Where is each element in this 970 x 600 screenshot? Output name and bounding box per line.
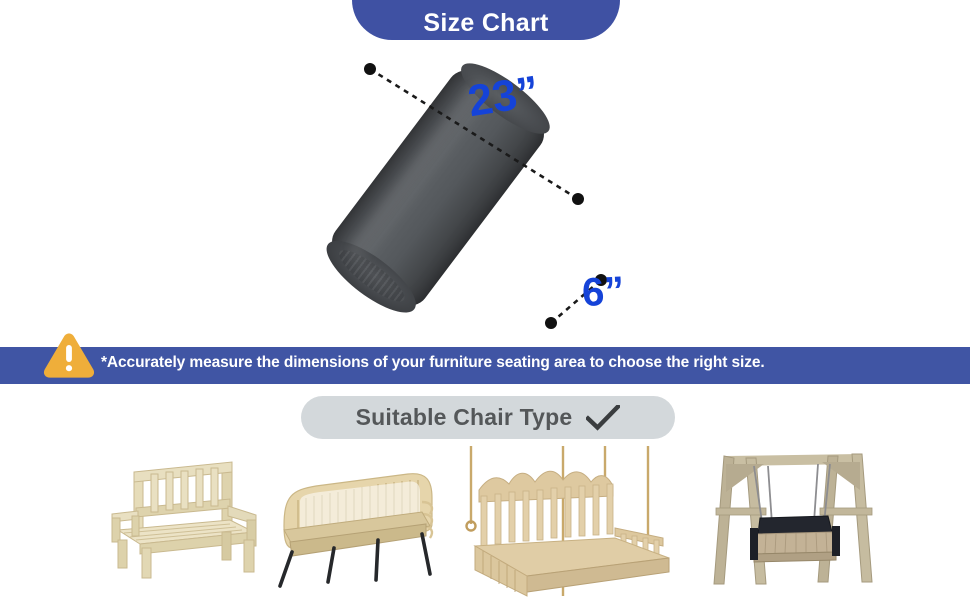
length-dimension-label: 23”: [465, 70, 542, 125]
check-icon: [586, 405, 620, 431]
list-item: [710, 444, 875, 594]
suitable-chair-type-label: Suitable Chair Type: [356, 406, 573, 429]
size-chart-header-pill: Size Chart: [352, 0, 620, 40]
list-item: [104, 458, 264, 583]
rattan-wicker-loveseat-image: [272, 468, 442, 590]
warning-triangle-icon: [42, 330, 96, 380]
list-item: [272, 468, 442, 590]
wooden-garden-bench-image: [104, 458, 264, 583]
length-dim-endpoint-end: [572, 193, 584, 205]
suitable-chair-type-pill: Suitable Chair Type: [301, 396, 675, 439]
diameter-dimension-label: 6”: [581, 271, 625, 313]
wooden-porch-swing-bed-image: [455, 446, 670, 598]
page-title: Size Chart: [423, 11, 548, 36]
suitable-chair-type-list: [0, 440, 970, 600]
length-dim-endpoint-start: [364, 63, 376, 75]
a-frame-swing-stand-image: [710, 444, 875, 594]
diameter-dim-endpoint-start: [545, 317, 557, 329]
list-item: [455, 446, 670, 598]
notice-text: *Accurately measure the dimensions of yo…: [101, 355, 931, 371]
product-illustration-area: 23” 6”: [0, 40, 970, 345]
